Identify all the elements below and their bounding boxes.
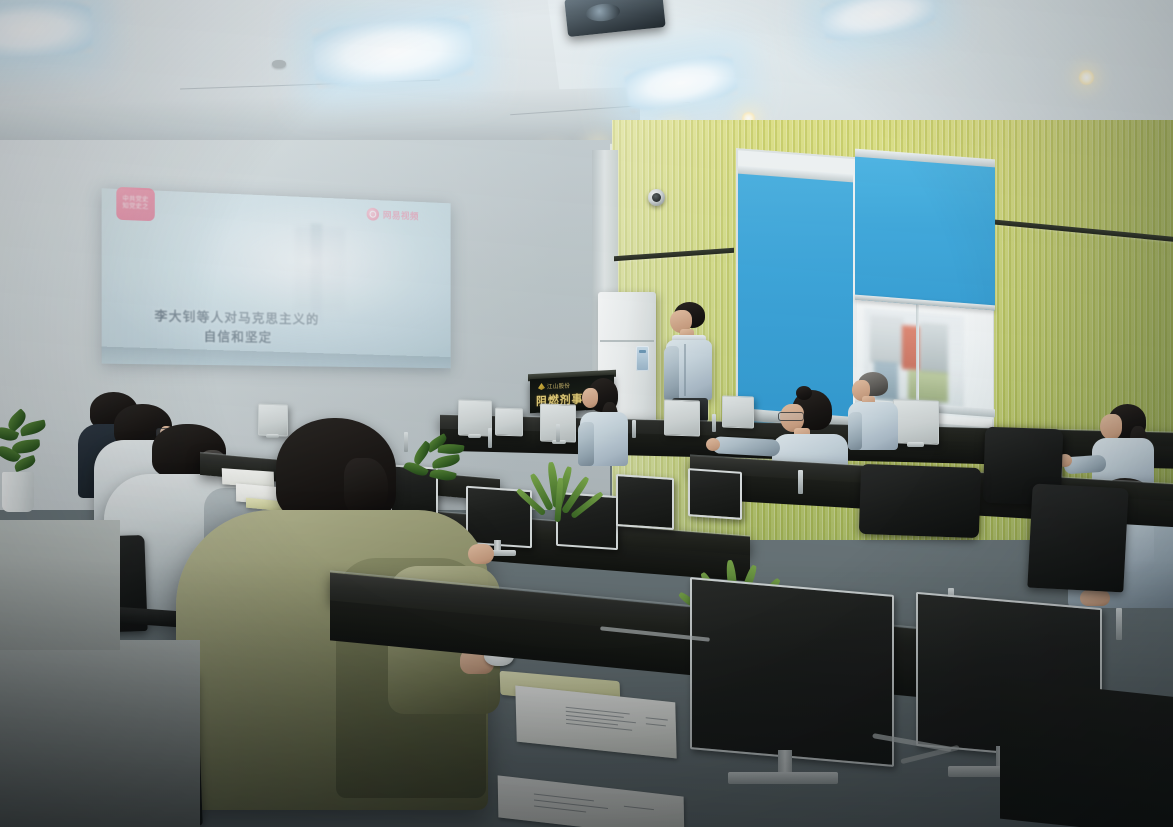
computer-monitor [690,577,894,767]
netease-logo-icon [367,208,379,221]
projection-content: 中共党史 知党史之 网易视频 李大钊等人对马克思主义的 自信和坚定 [102,188,451,368]
floor [0,520,120,650]
potted-plant [516,462,612,546]
hand [706,438,720,451]
smoke-detector-icon [272,60,286,68]
roller-blind-right[interactable] [855,155,995,311]
projection-ghost-text [310,223,322,323]
desk-divider-post [798,470,803,494]
training-room-photo: 中共党史 知党史之 网易视频 李大钊等人对马克思主义的 自信和坚定 江山股份 阻… [0,0,1173,827]
hand [468,544,494,564]
computer-monitor [664,399,700,436]
video-watermark: 网易视频 [367,208,419,223]
document-paper [498,775,685,827]
computer-monitor [722,395,754,428]
computer-monitor [688,468,742,520]
potted-plant [0,414,54,528]
desk-divider-post [1116,608,1122,640]
attendee-front-right-woman [578,378,634,470]
document-paper [515,685,676,758]
desk-divider-post [556,424,560,442]
air-conditioner-led [639,350,646,353]
projection-caption: 李大钊等人对马克思主义的 自信和坚定 [110,306,361,349]
monitor-stand [907,442,924,447]
podium-logo-text: 江山股份 [547,381,570,390]
air-conditioner-seam [600,340,654,342]
arm [712,436,781,457]
watermark-text: 网易视频 [383,208,419,222]
panel-light [0,1,93,60]
desk-divider-post [632,420,636,438]
office-chair[interactable] [859,464,981,538]
projection-badge: 中共党史 知党史之 [116,187,154,221]
caption-line-2: 自信和坚定 [110,325,361,348]
desk-front-panel [1000,679,1173,827]
projection-badge-line2: 知党史之 [122,204,148,212]
desk-divider-post [712,414,716,432]
glasses-icon [778,412,804,421]
company-logo-icon [538,383,545,390]
camera-lens-icon [652,193,661,202]
computer-monitor [616,474,674,530]
spot-light [1079,70,1094,85]
hand [1080,590,1110,606]
monitor-stand [728,772,838,784]
floor [0,640,200,827]
office-chair[interactable] [1027,484,1128,593]
